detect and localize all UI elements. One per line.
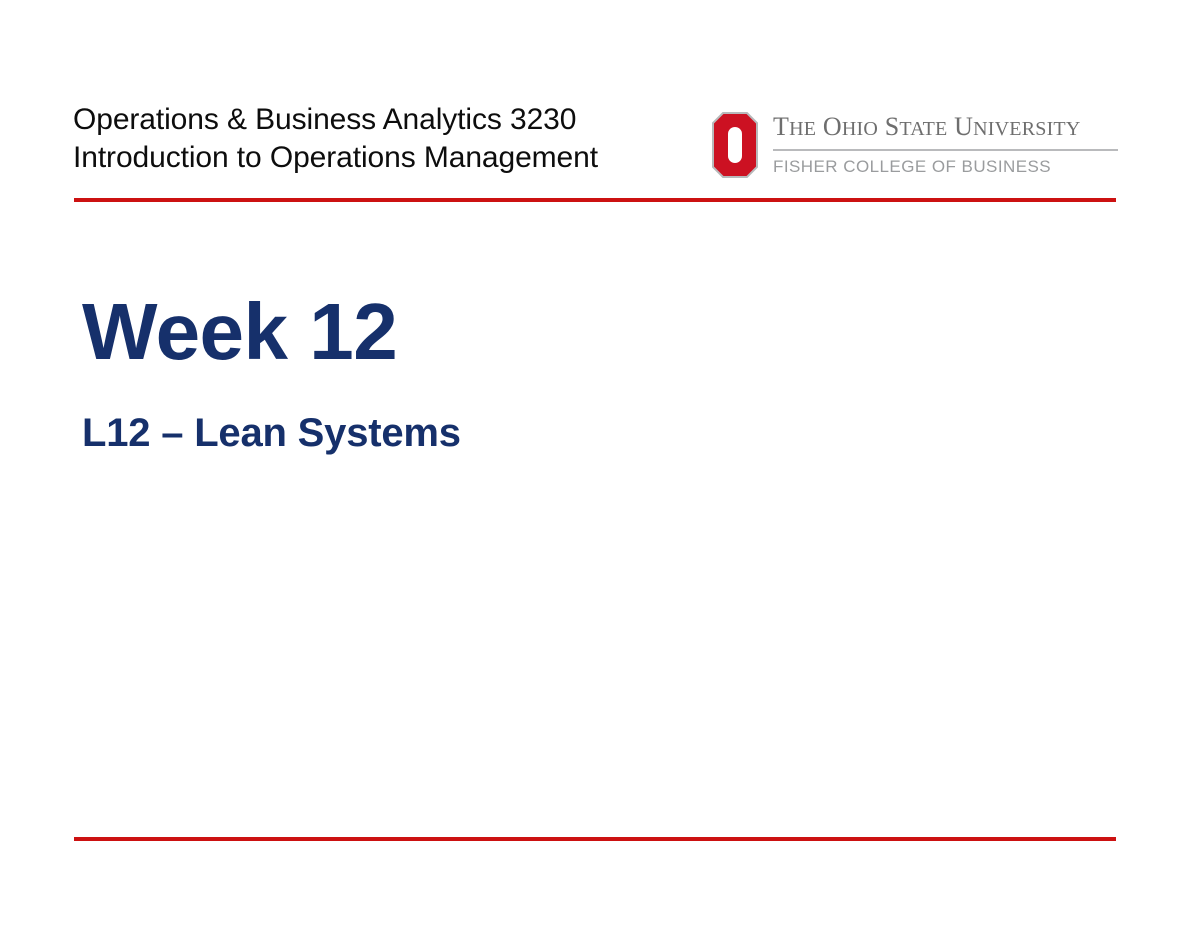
university-name: THE OHIO STATE UNIVERSITY (773, 112, 1122, 144)
slide-body-placeholder (74, 470, 1116, 830)
logo-wordmark: THE OHIO STATE UNIVERSITY FISHER COLLEGE… (773, 110, 1122, 177)
slide-canvas: Operations & Business Analytics 3230 Int… (0, 0, 1200, 928)
slide-subtitle: L12 – Lean Systems (82, 408, 461, 458)
footer-accent-rule (74, 837, 1116, 841)
course-title-line-1: Operations & Business Analytics 3230 (73, 101, 723, 139)
osu-fisher-logo: THE OHIO STATE UNIVERSITY FISHER COLLEGE… (712, 110, 1122, 182)
course-header: Operations & Business Analytics 3230 Int… (73, 101, 723, 177)
header-accent-rule (74, 198, 1116, 202)
logo-divider (773, 149, 1118, 151)
osu-block-o-icon (712, 112, 758, 178)
slide-main-title: Week 12 (82, 288, 397, 376)
course-title-line-2: Introduction to Operations Management (73, 139, 723, 177)
college-name: FISHER COLLEGE OF BUSINESS (773, 157, 1122, 177)
